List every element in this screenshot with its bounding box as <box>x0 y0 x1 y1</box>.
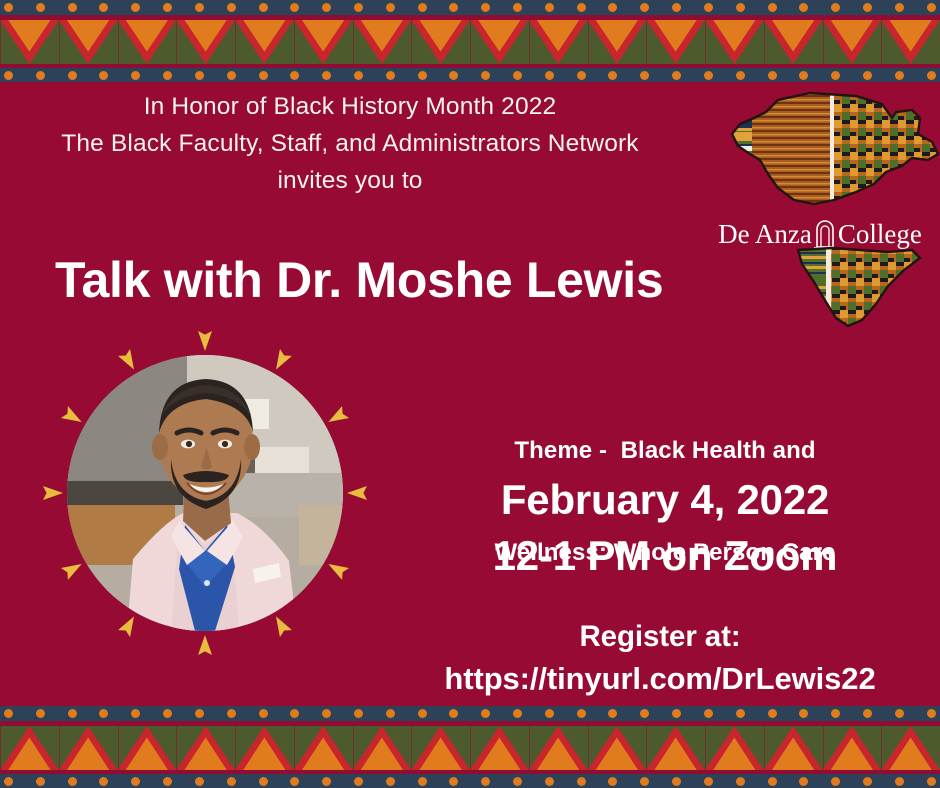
triangle-motif <box>118 20 177 64</box>
africa-map-icon-lower <box>792 246 928 328</box>
gold-spike-ornament <box>61 558 85 580</box>
dot-ornament <box>195 3 204 12</box>
dot-ornament <box>608 709 617 718</box>
dot-ornament <box>195 777 204 786</box>
dot-ornament <box>704 777 713 786</box>
triangle-separator <box>588 726 589 770</box>
triangle-separator <box>0 726 1 770</box>
dot-ornament <box>131 777 140 786</box>
triangle-band-bottom <box>0 726 940 770</box>
triangle-separator <box>118 20 119 64</box>
gold-spike-ornament <box>347 486 367 500</box>
dot-ornament <box>672 3 681 12</box>
triangle-motif <box>705 20 764 64</box>
dot-ornament <box>99 71 108 80</box>
gold-spike-ornament <box>198 331 212 351</box>
triangle-motif <box>118 726 177 770</box>
triangle-motif <box>705 726 764 770</box>
flyer-canvas: In Honor of Black History Month 2022 The… <box>0 0 940 788</box>
gold-spike-ornament <box>270 612 292 636</box>
dot-ornament <box>831 71 840 80</box>
dot-ornament <box>577 71 586 80</box>
triangle-motif <box>588 726 647 770</box>
dot-ornament <box>704 3 713 12</box>
dot-ornament <box>608 3 617 12</box>
dot-ornament <box>481 71 490 80</box>
triangle-motif <box>881 726 940 770</box>
dot-ornament <box>418 709 427 718</box>
dot-ornament <box>36 71 45 80</box>
triangle-separator <box>411 726 412 770</box>
dot-ornament <box>799 777 808 786</box>
dot-ornament <box>545 3 554 12</box>
dot-ornament <box>322 777 331 786</box>
dot-ornament <box>4 709 13 718</box>
triangle-row <box>0 726 940 770</box>
dot-ornament <box>895 3 904 12</box>
dot-ornament <box>354 709 363 718</box>
dot-ornament <box>768 709 777 718</box>
dot-ornament <box>736 3 745 12</box>
triangle-motif <box>294 726 353 770</box>
dot-row <box>0 71 940 80</box>
africa-map-icon <box>706 88 940 206</box>
gold-spike-ornament <box>324 406 348 428</box>
triangle-separator <box>470 726 471 770</box>
dot-ornament <box>640 3 649 12</box>
dot-ornament <box>290 3 299 12</box>
dot-band-bottom-outer <box>0 774 940 788</box>
dot-ornament <box>36 777 45 786</box>
dot-ornament <box>545 709 554 718</box>
dot-band-top-outer <box>0 0 940 15</box>
event-time: 12-1 PM on Zoom <box>430 528 900 584</box>
dot-ornament <box>895 709 904 718</box>
dot-ornament <box>927 71 936 80</box>
triangle-separator <box>529 726 530 770</box>
triangle-separator <box>118 726 119 770</box>
dot-ornament <box>4 3 13 12</box>
dot-ornament <box>163 71 172 80</box>
triangle-motif <box>0 726 59 770</box>
triangle-separator <box>646 20 647 64</box>
dot-ornament <box>322 71 331 80</box>
dot-row <box>0 3 940 12</box>
triangle-separator <box>764 20 765 64</box>
dot-ornament <box>131 71 140 80</box>
triangle-motif <box>823 20 882 64</box>
triangle-separator <box>235 20 236 64</box>
triangle-motif <box>764 726 823 770</box>
dot-ornament <box>4 71 13 80</box>
dot-ornament <box>577 709 586 718</box>
triangle-motif <box>353 726 412 770</box>
dot-ornament <box>545 777 554 786</box>
theme-line-1: Theme - Black Health and <box>430 434 900 468</box>
dot-ornament <box>227 777 236 786</box>
logo-word-right: College <box>838 221 922 248</box>
dot-ornament <box>322 709 331 718</box>
event-date: February 4, 2022 <box>430 472 900 528</box>
triangle-separator <box>705 20 706 64</box>
dot-ornament <box>195 709 204 718</box>
dot-ornament <box>863 3 872 12</box>
triangle-motif <box>59 726 118 770</box>
dot-ornament <box>863 71 872 80</box>
gold-spike-ornament <box>270 349 292 373</box>
dot-ornament <box>481 777 490 786</box>
dot-ornament <box>608 71 617 80</box>
dot-ornament <box>704 71 713 80</box>
triangle-separator <box>353 20 354 64</box>
gold-spike-ornament <box>198 635 212 655</box>
dot-ornament <box>608 777 617 786</box>
speaker-portrait <box>45 333 365 653</box>
dot-ornament <box>513 3 522 12</box>
triangle-separator <box>646 726 647 770</box>
triangle-motif <box>646 726 705 770</box>
dot-ornament <box>799 71 808 80</box>
dot-ornament <box>354 3 363 12</box>
dot-ornament <box>481 3 490 12</box>
dot-ornament <box>4 777 13 786</box>
triangle-separator <box>353 726 354 770</box>
triangle-motif <box>470 726 529 770</box>
dot-ornament <box>68 3 77 12</box>
dot-ornament <box>418 3 427 12</box>
header-line-3: invites you to <box>0 162 700 199</box>
dot-ornament <box>863 709 872 718</box>
dot-ornament <box>736 71 745 80</box>
dot-ornament <box>704 709 713 718</box>
triangle-motif <box>176 20 235 64</box>
triangle-separator <box>881 726 882 770</box>
triangle-motif <box>764 20 823 64</box>
triangle-band-top <box>0 20 940 64</box>
triangle-motif <box>294 20 353 64</box>
dot-ornament <box>163 3 172 12</box>
triangle-motif <box>646 20 705 64</box>
dot-ornament <box>736 709 745 718</box>
portrait-image <box>67 355 343 631</box>
dot-ornament <box>831 3 840 12</box>
dot-ornament <box>927 777 936 786</box>
gold-spike-ornament <box>118 612 140 636</box>
dot-ornament <box>290 71 299 80</box>
dot-ornament <box>927 3 936 12</box>
triangle-separator <box>176 726 177 770</box>
triangle-motif <box>588 20 647 64</box>
triangle-separator <box>59 726 60 770</box>
dot-ornament <box>99 3 108 12</box>
dot-ornament <box>386 709 395 718</box>
kente-border-top <box>0 0 940 82</box>
dot-ornament <box>386 71 395 80</box>
dot-ornament <box>449 709 458 718</box>
dot-ornament <box>513 777 522 786</box>
triangle-separator <box>411 20 412 64</box>
triangle-separator <box>588 20 589 64</box>
event-datetime: February 4, 2022 12-1 PM on Zoom <box>430 472 900 584</box>
triangle-separator <box>470 20 471 64</box>
dot-row <box>0 777 940 786</box>
dot-ornament <box>354 71 363 80</box>
dot-band-top-inner <box>0 68 940 82</box>
triangle-motif <box>411 20 470 64</box>
logo-word-left: De Anza <box>718 221 812 248</box>
triangle-separator <box>529 20 530 64</box>
triangle-motif <box>176 726 235 770</box>
triangle-separator <box>294 726 295 770</box>
triangle-motif <box>59 20 118 64</box>
dot-ornament <box>163 709 172 718</box>
dot-ornament <box>290 777 299 786</box>
dot-ornament <box>799 709 808 718</box>
triangle-motif <box>529 726 588 770</box>
dot-ornament <box>640 709 649 718</box>
triangle-separator <box>0 20 1 64</box>
header-line-1: In Honor of Black History Month 2022 <box>0 88 700 125</box>
dot-ornament <box>386 3 395 12</box>
triangle-motif <box>881 20 940 64</box>
dot-ornament <box>163 777 172 786</box>
dot-ornament <box>99 777 108 786</box>
dot-ornament <box>259 71 268 80</box>
dot-ornament <box>68 709 77 718</box>
dot-ornament <box>322 3 331 12</box>
gold-spike-ornament <box>43 486 63 500</box>
dot-ornament <box>259 709 268 718</box>
triangle-motif <box>470 20 529 64</box>
register-label: Register at: <box>395 617 925 658</box>
dot-ornament <box>672 71 681 80</box>
dot-ornament <box>799 3 808 12</box>
triangle-motif <box>0 20 59 64</box>
dot-ornament <box>131 709 140 718</box>
dot-ornament <box>259 3 268 12</box>
triangle-motif <box>529 20 588 64</box>
gold-spike-ornament <box>324 558 348 580</box>
triangle-separator <box>764 726 765 770</box>
dot-ornament <box>736 777 745 786</box>
triangle-separator <box>823 20 824 64</box>
triangle-separator <box>823 726 824 770</box>
triangle-separator <box>881 20 882 64</box>
header-text: In Honor of Black History Month 2022 The… <box>0 88 700 200</box>
dot-ornament <box>831 709 840 718</box>
dot-ornament <box>545 71 554 80</box>
logo-wordmark: De Anza College <box>700 208 940 248</box>
register-url[interactable]: https://tinyurl.com/DrLewis22 <box>395 658 925 701</box>
dot-ornament <box>513 71 522 80</box>
dot-ornament <box>449 3 458 12</box>
gold-spike-ornament <box>118 349 140 373</box>
dot-ornament <box>354 777 363 786</box>
dot-ornament <box>386 777 395 786</box>
dot-ornament <box>513 709 522 718</box>
triangle-row <box>0 20 940 64</box>
dot-ornament <box>418 777 427 786</box>
dot-ornament <box>418 71 427 80</box>
dot-ornament <box>481 709 490 718</box>
dot-ornament <box>195 71 204 80</box>
triangle-separator <box>705 726 706 770</box>
dot-band-bottom-inner <box>0 706 940 721</box>
dot-ornament <box>259 777 268 786</box>
gold-spike-ornament <box>61 406 85 428</box>
dot-ornament <box>640 777 649 786</box>
dot-ornament <box>672 709 681 718</box>
dot-ornament <box>227 3 236 12</box>
dot-ornament <box>895 71 904 80</box>
dot-ornament <box>672 777 681 786</box>
dot-ornament <box>895 777 904 786</box>
dot-ornament <box>768 71 777 80</box>
header-line-2: The Black Faculty, Staff, and Administra… <box>0 125 700 162</box>
triangle-separator <box>59 20 60 64</box>
dot-ornament <box>36 3 45 12</box>
archway-icon <box>814 218 836 248</box>
dot-ornament <box>768 777 777 786</box>
triangle-motif <box>235 726 294 770</box>
page-title: Talk with Dr. Moshe Lewis <box>55 255 785 305</box>
dot-ornament <box>227 709 236 718</box>
dot-ornament <box>831 777 840 786</box>
dot-ornament <box>640 71 649 80</box>
dot-ornament <box>577 3 586 12</box>
dot-ornament <box>99 709 108 718</box>
dot-row <box>0 709 940 718</box>
dot-ornament <box>68 71 77 80</box>
triangle-separator <box>235 726 236 770</box>
triangle-separator <box>294 20 295 64</box>
triangle-motif <box>411 726 470 770</box>
dot-ornament <box>577 777 586 786</box>
triangle-separator <box>176 20 177 64</box>
triangle-motif <box>823 726 882 770</box>
triangle-motif <box>353 20 412 64</box>
dot-ornament <box>36 709 45 718</box>
dot-ornament <box>68 777 77 786</box>
registration-info: Register at: https://tinyurl.com/DrLewis… <box>395 617 925 700</box>
dot-ornament <box>290 709 299 718</box>
dot-ornament <box>768 3 777 12</box>
dot-ornament <box>927 709 936 718</box>
dot-ornament <box>131 3 140 12</box>
kente-border-bottom <box>0 706 940 788</box>
dot-ornament <box>449 71 458 80</box>
triangle-motif <box>235 20 294 64</box>
dot-ornament <box>449 777 458 786</box>
dot-ornament <box>227 71 236 80</box>
dot-ornament <box>863 777 872 786</box>
